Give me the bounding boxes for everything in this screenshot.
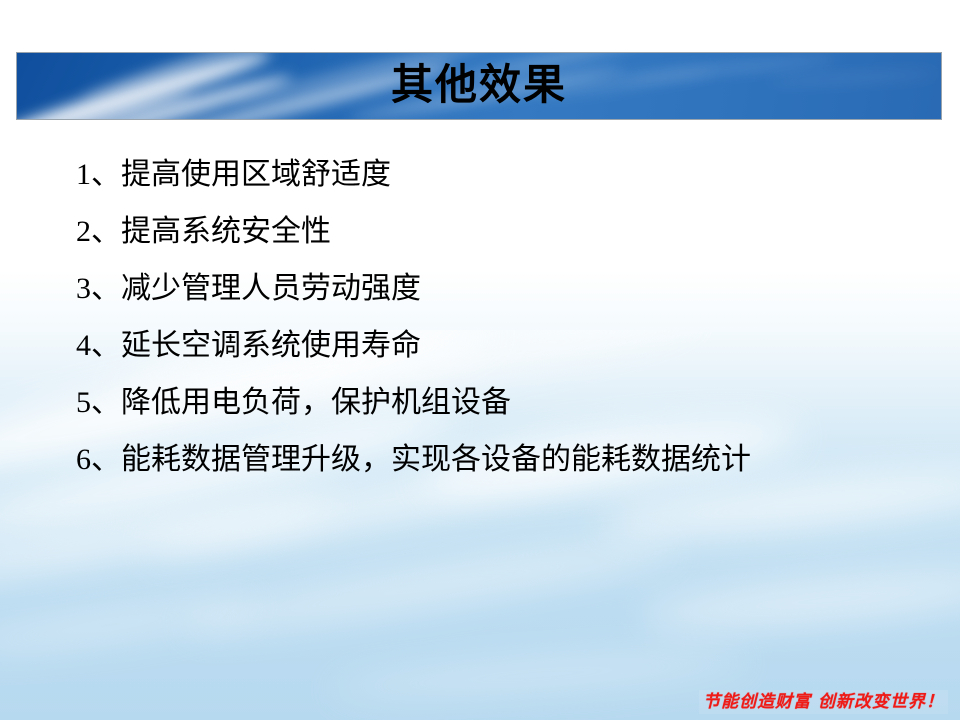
page-title: 其他效果 bbox=[17, 53, 941, 119]
title-banner: 其他效果 bbox=[16, 52, 942, 120]
cloud-streak bbox=[329, 645, 750, 704]
bullet-list: 1、提高使用区域舒适度 2、提高系统安全性 3、减少管理人员劳动强度 4、延长空… bbox=[76, 146, 936, 488]
list-item: 6、能耗数据管理升级，实现各设备的能耗数据统计 bbox=[76, 431, 936, 488]
list-item: 2、提高系统安全性 bbox=[76, 203, 936, 260]
slide-canvas: 其他效果 1、提高使用区域舒适度 2、提高系统安全性 3、减少管理人员劳动强度 … bbox=[0, 0, 960, 720]
cloud-streak bbox=[180, 531, 679, 643]
cloud-streak bbox=[639, 564, 960, 637]
list-item: 1、提高使用区域舒适度 bbox=[76, 146, 936, 203]
list-item: 3、减少管理人员劳动强度 bbox=[76, 260, 936, 317]
list-item: 5、降低用电负荷，保护机组设备 bbox=[76, 374, 936, 431]
list-item: 4、延长空调系统使用寿命 bbox=[76, 317, 936, 374]
footer-slogan: 节能创造财富 创新改变世界！ bbox=[699, 690, 948, 714]
